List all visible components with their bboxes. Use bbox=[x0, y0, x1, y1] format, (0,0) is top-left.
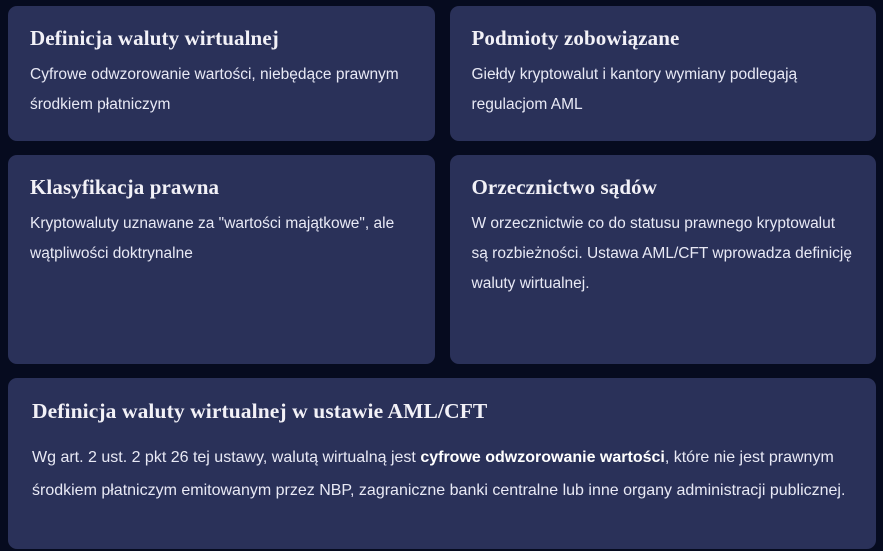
card-podmioty-zobowiazane: Podmioty zobowiązane Giełdy kryptowalut … bbox=[450, 6, 877, 141]
body-lead-text: Wg art. 2 ust. 2 pkt 26 tej ustawy, walu… bbox=[32, 449, 420, 466]
infographic-board: Definicja waluty wirtualnej Cyfrowe odwz… bbox=[0, 0, 883, 551]
card-grid: Definicja waluty wirtualnej Cyfrowe odwz… bbox=[8, 6, 876, 364]
card-klasyfikacja-prawna: Klasyfikacja prawna Kryptowaluty uznawan… bbox=[8, 155, 435, 364]
card-title: Klasyfikacja prawna bbox=[30, 174, 413, 200]
card-definicja-w-ustawie-aml-cft: Definicja waluty wirtualnej w ustawie AM… bbox=[8, 378, 876, 549]
card-title: Definicja waluty wirtualnej bbox=[30, 25, 413, 51]
card-title: Definicja waluty wirtualnej w ustawie AM… bbox=[32, 398, 852, 424]
card-body: W orzecznictwie co do statusu prawnego k… bbox=[472, 209, 855, 299]
card-body: Wg art. 2 ust. 2 pkt 26 tej ustawy, walu… bbox=[32, 441, 852, 507]
card-orzecznictwo-sadow: Orzecznictwo sądów W orzecznictwie co do… bbox=[450, 155, 877, 364]
card-body: Cyfrowe odwzorowanie wartości, niebędące… bbox=[30, 60, 413, 120]
card-body: Giełdy kryptowalut i kantory wymiany pod… bbox=[472, 60, 855, 120]
card-definicja-waluty-wirtualnej: Definicja waluty wirtualnej Cyfrowe odwz… bbox=[8, 6, 435, 141]
card-title: Podmioty zobowiązane bbox=[472, 25, 855, 51]
card-body: Kryptowaluty uznawane za "wartości mająt… bbox=[30, 209, 413, 269]
body-emphasis-text: cyfrowe odwzorowanie wartości bbox=[420, 449, 665, 466]
card-title: Orzecznictwo sądów bbox=[472, 174, 855, 200]
